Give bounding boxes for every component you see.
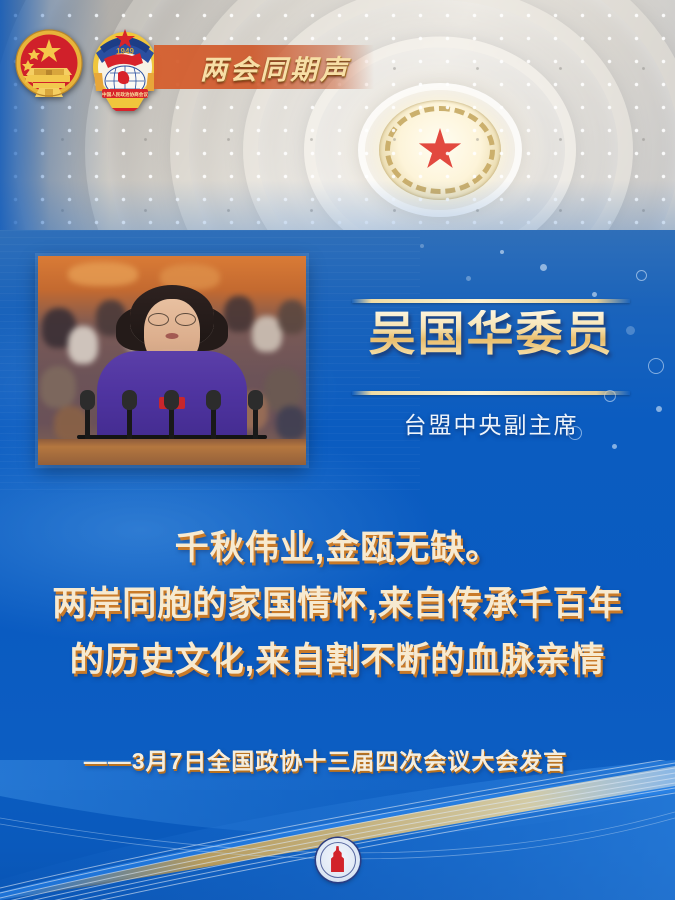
- quote-line-1: 千秋伟业,金瓯无缺。: [0, 520, 675, 576]
- speaker-role: 台盟中央副主席: [352, 406, 630, 440]
- quote-block: 千秋伟业,金瓯无缺。 两岸同胞的家国情怀,来自传承千百年 的历史文化,来自割不断…: [0, 520, 675, 688]
- program-banner: 两会同期声: [154, 45, 374, 89]
- mouth: [166, 333, 179, 339]
- poster-root: 1949 中国人民政治协商会议 两会同期声: [0, 0, 675, 900]
- xinhua-logo-icon: [316, 838, 360, 882]
- svg-text:中国人民政治协商会议: 中国人民政治协商会议: [102, 91, 148, 98]
- banner-title: 两会同期声: [200, 48, 350, 87]
- speaker-photo: [38, 256, 306, 465]
- name-divider-bottom: [352, 391, 630, 395]
- speaker-name: 吴国华委员: [352, 310, 630, 357]
- quote-line-3: 的历史文化,来自割不断的血脉亲情: [0, 632, 675, 688]
- name-divider-top: [352, 299, 630, 303]
- header-brand: 1949 中国人民政治协商会议 两会同期声: [12, 22, 374, 112]
- podium: [38, 439, 306, 465]
- cppcc-emblem-icon: 1949 中国人民政治协商会议: [88, 23, 162, 111]
- quote-attribution: ——3月7日全国政协十三届四次会议大会发言: [0, 742, 675, 776]
- national-emblem-icon: [12, 27, 86, 107]
- glasses-icon: [148, 313, 196, 325]
- quote-line-2: 两岸同胞的家国情怀,来自传承千百年: [0, 576, 675, 632]
